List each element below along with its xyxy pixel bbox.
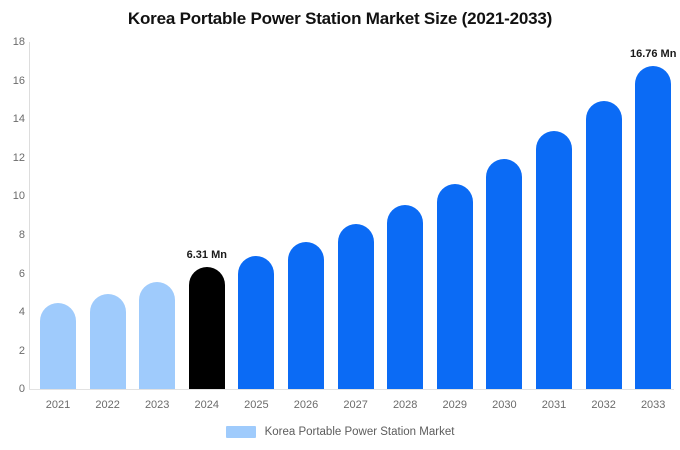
x-tick-label: 2030 — [476, 399, 532, 411]
legend-label: Korea Portable Power Station Market — [265, 426, 455, 438]
x-axis-tick-labels: 2021202220232024202520262027202820292030… — [0, 0, 680, 450]
x-tick-label: 2032 — [576, 399, 632, 411]
x-tick-label: 2028 — [377, 399, 433, 411]
x-tick-label: 2023 — [129, 399, 185, 411]
x-tick-label: 2025 — [228, 399, 284, 411]
legend-swatch — [226, 426, 256, 438]
x-tick-label: 2031 — [526, 399, 582, 411]
x-tick-label: 2029 — [427, 399, 483, 411]
x-tick-label: 2022 — [80, 399, 136, 411]
chart-container: Korea Portable Power Station Market Size… — [0, 0, 680, 450]
x-tick-label: 2024 — [179, 399, 235, 411]
x-tick-label: 2033 — [625, 399, 680, 411]
chart-legend: Korea Portable Power Station Market — [0, 426, 680, 438]
x-tick-label: 2026 — [278, 399, 334, 411]
x-tick-label: 2027 — [328, 399, 384, 411]
x-tick-label: 2021 — [30, 399, 86, 411]
